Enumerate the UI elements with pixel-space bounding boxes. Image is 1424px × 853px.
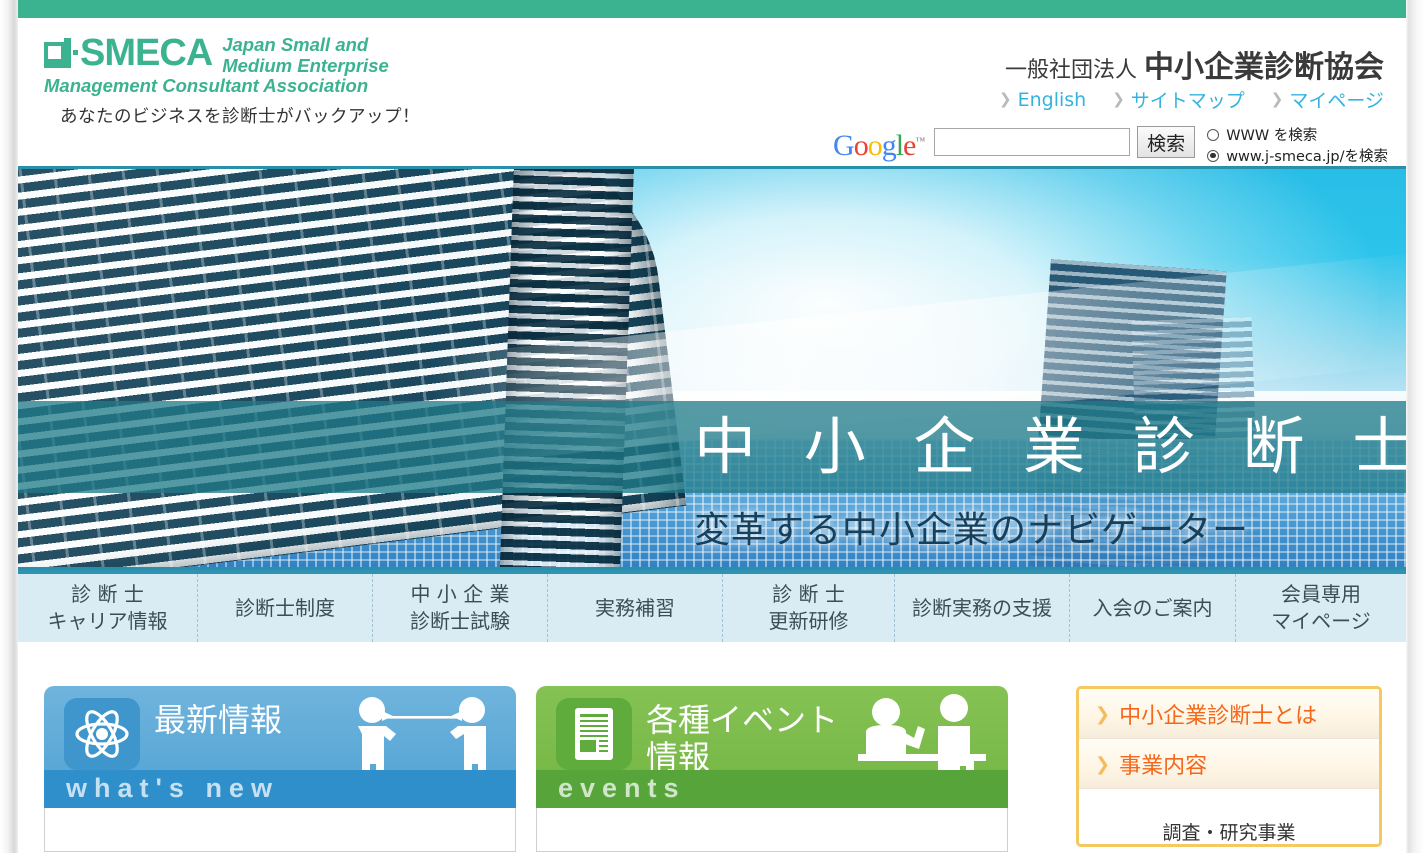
sidebar-item-about-consultant[interactable]: ❯ 中小企業診断士とは [1079, 689, 1379, 739]
logo-wordmark: SMECA [80, 34, 212, 72]
main-navigation: 診 断 士 キャリア情報 診断士制度 中 小 企 業 診断士試験 実務補習 診 … [18, 570, 1406, 642]
nav-item-membership[interactable]: 入会のご案内 [1070, 574, 1236, 642]
nav-item-practical-training[interactable]: 実務補習 [548, 574, 723, 642]
logo-top-row: SMECA Japan Small and Medium Enterprise [44, 34, 484, 75]
org-title: 中小企業診断協会 [1144, 50, 1384, 85]
sidebar-subitem-research[interactable]: 調査・研究事業 [1079, 789, 1379, 841]
banner-whats-new[interactable]: 最新情報 what' [44, 686, 516, 808]
nav-item-practice-support[interactable]: 診断実務の支援 [895, 574, 1070, 642]
whats-new-list-box [44, 808, 516, 852]
banner-title-jp: 最新情報 [154, 702, 282, 739]
banner-strip: what's new [44, 770, 516, 808]
atom-icon [64, 698, 140, 770]
sidebar-menu: ❯ 中小企業診断士とは ❯ 事業内容 調査・研究事業 [1076, 686, 1382, 847]
utility-link-english[interactable]: ❯ English [999, 89, 1086, 111]
search-scope-label: WWW を検索 [1226, 124, 1317, 145]
page-column: SMECA Japan Small and Medium Enterprise … [18, 0, 1406, 853]
radio-checked-icon[interactable] [1207, 150, 1219, 162]
document-icon [556, 698, 632, 770]
search-area: Google™ 検索 WWW を検索 www.j-smeca.jp/を検索 [833, 123, 1388, 166]
jsmeca-logo-icon [44, 38, 78, 72]
chevron-right-icon: ❯ [1112, 92, 1125, 107]
google-logo-icon: Google™ [833, 127, 924, 161]
banner-title-en: events [558, 773, 686, 804]
search-input[interactable] [934, 128, 1130, 156]
hero-subtitle: 変革する中小企業のナビゲーター [694, 501, 1249, 553]
hero-title: 中 小 企 業 診 断 士 [694, 411, 1406, 483]
radio-unchecked-icon[interactable] [1207, 129, 1219, 141]
chevron-right-icon: ❯ [999, 92, 1012, 107]
search-button[interactable]: 検索 [1137, 126, 1195, 158]
sidebar-item-label: 事業内容 [1119, 748, 1207, 780]
nav-item-exam[interactable]: 中 小 企 業 診断士試験 [373, 574, 548, 642]
banner-title-en: what's new [66, 773, 279, 804]
sidebar-item-business-content[interactable]: ❯ 事業内容 [1079, 739, 1379, 789]
banner-title-jp: 各種イベント 情報 [646, 702, 838, 776]
chevron-right-icon: ❯ [1095, 755, 1110, 773]
nav-item-member-mypage[interactable]: 会員専用 マイページ [1236, 574, 1406, 642]
main-content: 最新情報 what' [18, 642, 1406, 847]
hero-banner: 変革する中小企業のナビゲーター 中 小 企 業 診 断 士 [18, 166, 1406, 570]
search-scope-site[interactable]: www.j-smeca.jp/を検索 [1207, 145, 1388, 166]
events-list-box [536, 808, 1008, 852]
banner-events[interactable]: 各種イベント 情報 [536, 686, 1008, 808]
right-gutter [1406, 0, 1424, 853]
logo-tagline-3: Management Consultant Association [44, 75, 484, 96]
nav-item-career[interactable]: 診 断 士 キャリア情報 [18, 574, 198, 642]
org-prefix: 一般社団法人 [1005, 58, 1144, 83]
organization-name: 一般社団法人 中小企業診断協会 [1005, 42, 1384, 86]
search-scope-label: www.j-smeca.jp/を検索 [1226, 145, 1388, 166]
logo-tagline-2: Medium Enterprise [222, 56, 389, 76]
chevron-right-icon: ❯ [1271, 92, 1284, 107]
banner-strip: events [536, 770, 1008, 808]
logo-japanese-tagline: あなたのビジネスを診断士がバックアップ！ [60, 103, 484, 128]
logo-tagline-1: Japan Small and [222, 35, 389, 55]
utility-links: ❯ English ❯ サイトマップ ❯ マイページ [999, 86, 1384, 113]
site-header: SMECA Japan Small and Medium Enterprise … [18, 18, 1406, 166]
sidebar-subitem-label: 調査・研究事業 [1162, 818, 1295, 845]
utility-link-label: サイトマップ [1131, 86, 1245, 113]
nav-item-system[interactable]: 診断士制度 [198, 574, 373, 642]
utility-link-label: マイページ [1289, 86, 1384, 113]
sidebar-item-label: 中小企業診断士とは [1119, 698, 1317, 730]
search-scope-www[interactable]: WWW を検索 [1207, 124, 1388, 145]
page-root: SMECA Japan Small and Medium Enterprise … [0, 0, 1424, 853]
site-logo[interactable]: SMECA Japan Small and Medium Enterprise … [44, 34, 484, 128]
utility-link-mypage[interactable]: ❯ マイページ [1271, 86, 1384, 113]
chevron-right-icon: ❯ [1095, 705, 1110, 723]
top-accent-bar [18, 0, 1406, 18]
utility-link-label: English [1018, 89, 1087, 111]
utility-link-sitemap[interactable]: ❯ サイトマップ [1112, 86, 1245, 113]
logo-tagline-block: Japan Small and Medium Enterprise [212, 34, 389, 75]
nav-item-renewal-training[interactable]: 診 断 士 更新研修 [723, 574, 895, 642]
left-gutter [0, 0, 18, 853]
search-scope-group: WWW を検索 www.j-smeca.jp/を検索 [1207, 124, 1388, 166]
